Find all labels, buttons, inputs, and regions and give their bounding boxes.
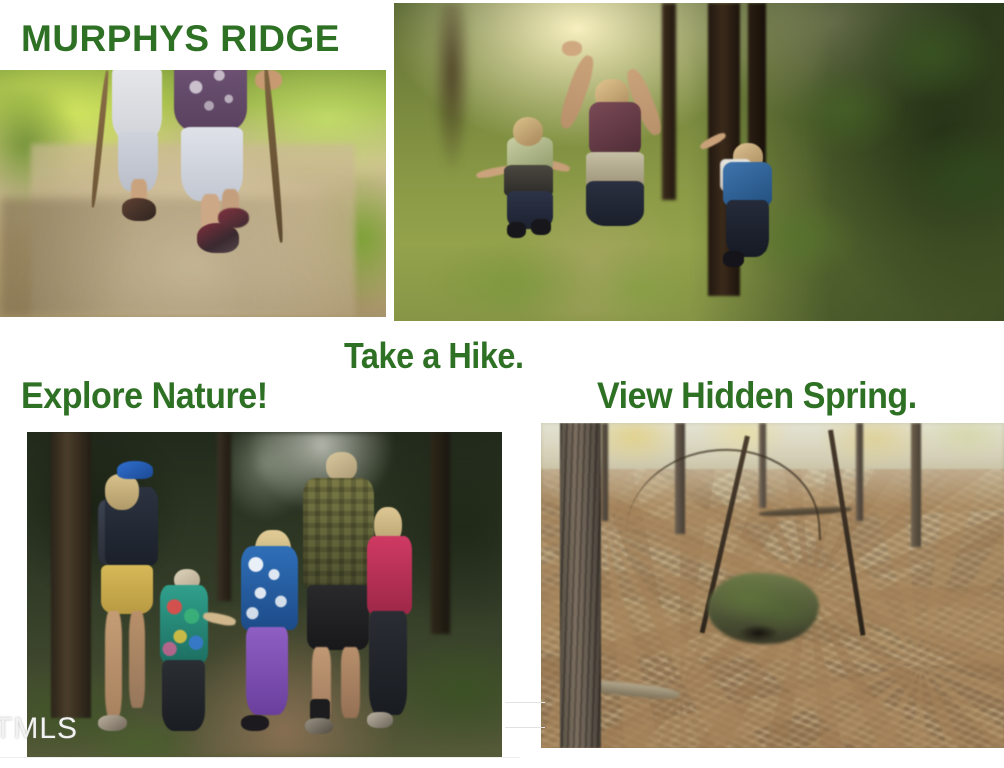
second-girl-legs (369, 611, 407, 715)
photo-bottom-left[interactable] (27, 432, 502, 757)
second-girl-pink-jacket (367, 536, 412, 614)
trail-shadows (0, 198, 386, 317)
divider-line-bottom (0, 757, 520, 758)
child-centre-legs (586, 181, 644, 226)
caption-take-a-hike: Take a Hike. (344, 338, 524, 374)
child-right-shoe (723, 251, 744, 267)
young-child-patterned-jacket (160, 585, 208, 663)
caption-explore-nature: Explore Nature! (21, 377, 268, 414)
hiker-near-shirt (174, 70, 247, 132)
woman-blue-cap (117, 461, 153, 479)
child-left-shoe-left (507, 222, 527, 238)
woman-shoe (98, 715, 127, 731)
sapling-trunk-5 (911, 423, 920, 547)
listing-flyer: MURPHYS RIDGE (0, 0, 1004, 768)
mls-watermark: TMLS (0, 712, 78, 746)
hiker-near-shoe-right (218, 208, 249, 228)
woman-yellow-shorts (101, 565, 153, 614)
girl-purple-pants (246, 627, 289, 715)
woman-hair (105, 474, 138, 510)
man-shoe (305, 718, 334, 734)
child-right-legs (726, 200, 769, 257)
hiker-far-shirt (112, 70, 162, 139)
child-left-shoe-right (531, 219, 551, 235)
photo-top-right[interactable] (394, 3, 1004, 321)
conifer-foliage (394, 3, 1004, 321)
man-head (326, 452, 357, 481)
large-foreground-tree (560, 423, 602, 748)
young-child-legs (162, 660, 205, 732)
girl-shoe (241, 715, 270, 731)
tree-trunk-left (51, 432, 91, 718)
man-shorts (307, 585, 369, 650)
man-plaid-shirt (303, 478, 374, 589)
child-centre-backpack (589, 102, 641, 156)
woman-leg-left (105, 611, 122, 718)
second-girl-shoe (367, 712, 393, 728)
photo-top-left[interactable] (0, 70, 386, 317)
caption-view-hidden-spring: View Hidden Spring. (597, 377, 917, 414)
divider-line-upper (505, 702, 545, 703)
page-title: MURPHYS RIDGE (21, 20, 340, 57)
child-left-head (513, 117, 544, 146)
photo-bottom-right[interactable] (541, 423, 1004, 748)
child-centre-fist (562, 41, 583, 56)
divider-line-lower (505, 727, 545, 728)
man-leg-right (341, 647, 360, 719)
sapling-trunk-4 (856, 423, 863, 521)
girl-polka-dot-jacket (241, 546, 298, 631)
spring-hollow (740, 625, 777, 641)
sapling-trunk-1 (601, 423, 607, 521)
woman-leg-right (129, 611, 145, 709)
hiker-far-shoe (122, 198, 157, 220)
